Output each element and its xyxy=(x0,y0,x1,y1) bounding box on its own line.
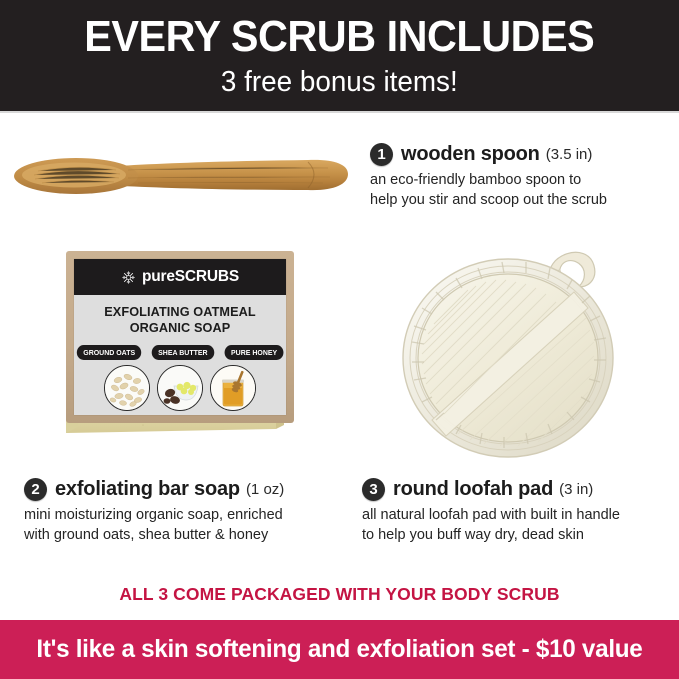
mandala-snowflake-icon xyxy=(121,270,136,285)
item-1-description-line-2: help you stir and scoop out the scrub xyxy=(370,190,670,210)
loofah-pad-image xyxy=(398,234,633,466)
item-2-description-line-2: with ground oats, shea butter & honey xyxy=(24,525,344,545)
item-2-quantity: (1 oz) xyxy=(246,481,284,498)
item-1-description: an eco-friendly bamboo spoon to help you… xyxy=(370,170,670,210)
ingredient-badge-shea: SHEA BUTTER xyxy=(152,345,214,360)
item-1-description-line-1: an eco-friendly bamboo spoon to xyxy=(370,170,670,190)
item-1-text-block: 1 wooden spoon (3.5 in) an eco-friendly … xyxy=(370,143,670,210)
soap-brand-bar: pureSCRUBS xyxy=(74,259,286,295)
item-3-text-block: 3 round loofah pad (3 in) all natural lo… xyxy=(362,478,672,545)
item-3-description-line-2: to help you buff way dry, dead skin xyxy=(362,525,672,545)
item-1-number-badge: 1 xyxy=(370,143,393,166)
page-subtitle: 3 free bonus items! xyxy=(221,68,458,97)
ingredient-badge-oats: GROUND OATS xyxy=(77,345,142,360)
item-3-number-badge: 3 xyxy=(362,478,385,501)
ingredient-badge-honey: PURE HONEY xyxy=(225,345,284,360)
item-2-description: mini moisturizing organic soap, enriched… xyxy=(24,505,344,545)
soap-product-line-1: EXFOLIATING OATMEAL xyxy=(74,304,286,320)
item-3-heading: 3 round loofah pad (3 in) xyxy=(362,478,672,501)
ingredient-photo-row xyxy=(74,365,286,411)
item-3-description: all natural loofah pad with built in han… xyxy=(362,505,672,545)
item-3-quantity: (3 in) xyxy=(559,481,593,498)
footer-value-banner: It's like a skin softening and exfoliati… xyxy=(0,620,679,679)
item-3-title: round loofah pad xyxy=(393,478,553,501)
soap-product-line-2: ORGANIC SOAP xyxy=(74,320,286,336)
item-1-heading: 1 wooden spoon (3.5 in) xyxy=(370,143,670,166)
item-3-description-line-1: all natural loofah pad with built in han… xyxy=(362,505,672,525)
footer-tagline: ALL 3 COME PACKAGED WITH YOUR BODY SCRUB xyxy=(0,584,679,605)
page-title: EVERY SCRUB INCLUDES xyxy=(84,15,594,59)
rolled-oats-photo xyxy=(104,365,150,411)
ingredient-badge-row: GROUND OATS SHEA BUTTER PURE HONEY xyxy=(74,345,286,360)
soap-product-name: EXFOLIATING OATMEAL ORGANIC SOAP xyxy=(74,304,286,337)
item-2-title: exfoliating bar soap xyxy=(55,478,240,501)
soap-brand-name: pureSCRUBS xyxy=(142,268,239,286)
shea-nuts-bowl-photo xyxy=(157,365,203,411)
header-divider xyxy=(0,111,679,113)
header-banner: EVERY SCRUB INCLUDES 3 free bonus items! xyxy=(0,0,679,111)
honey-jar-dipper-photo xyxy=(210,365,256,411)
item-1-quantity: (3.5 in) xyxy=(546,146,593,163)
soap-package-label: pureSCRUBS EXFOLIATING OATMEAL ORGANIC S… xyxy=(74,259,286,415)
item-2-description-line-1: mini moisturizing organic soap, enriched xyxy=(24,505,344,525)
wooden-spoon-image xyxy=(8,148,353,210)
bar-soap-image: pureSCRUBS EXFOLIATING OATMEAL ORGANIC S… xyxy=(48,243,298,458)
item-1-title: wooden spoon xyxy=(401,143,540,166)
item-2-heading: 2 exfoliating bar soap (1 oz) xyxy=(24,478,344,501)
footer-value-banner-text: It's like a skin softening and exfoliati… xyxy=(36,635,642,664)
item-2-text-block: 2 exfoliating bar soap (1 oz) mini moist… xyxy=(24,478,344,545)
item-2-number-badge: 2 xyxy=(24,478,47,501)
